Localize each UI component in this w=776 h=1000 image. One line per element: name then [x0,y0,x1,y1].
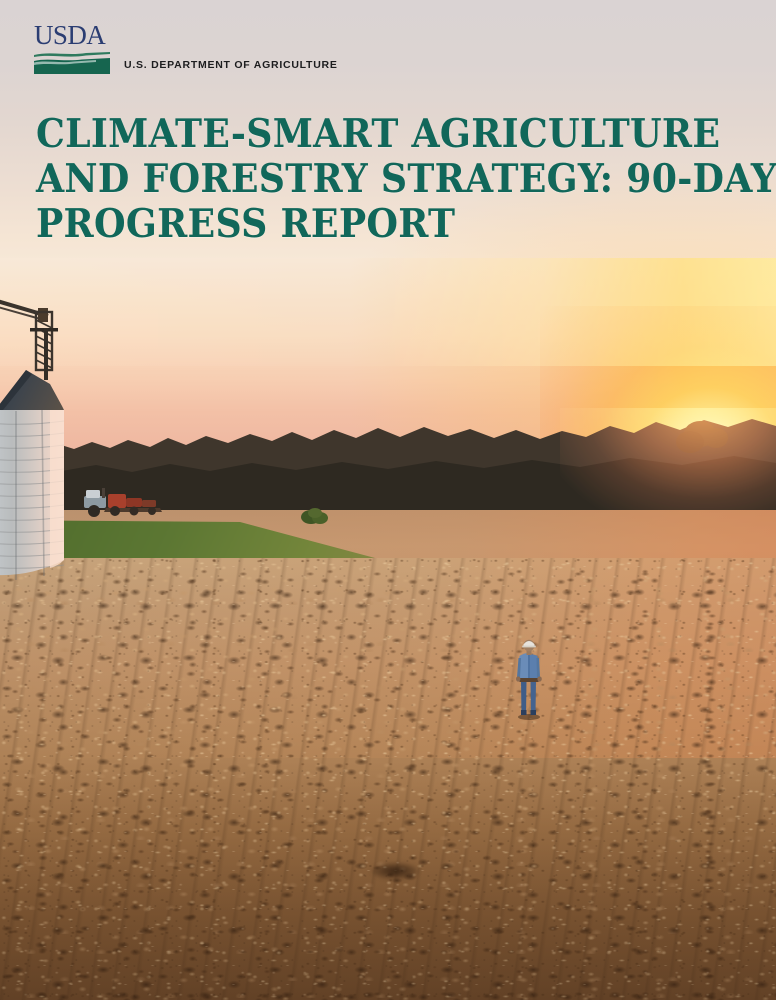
foreground-vignette [0,760,776,1000]
title-line-2: AND FORESTRY STRATEGY: 90-DAY [36,157,696,202]
usda-logo: USDA U.S. DEPARTMENT OF AGRICULTURE [34,22,338,76]
field-dark-patch [372,863,418,879]
title-line-3: PROGRESS REPORT [36,202,696,247]
title-line-1: CLIMATE-SMART AGRICULTURE [36,112,696,157]
usda-wordmark: USDA [34,22,110,48]
grain-silo [0,288,88,588]
farm-equipment [82,480,178,522]
shrub-icon [300,506,332,524]
auger-arm [0,296,48,322]
department-label: U.S. DEPARTMENT OF AGRICULTURE [124,59,338,71]
farmer-figure [512,636,546,720]
usda-seal-logo-icon: USDA [34,22,110,76]
silo-tower [30,312,58,380]
report-cover: USDA U.S. DEPARTMENT OF AGRICULTURE CLIM… [0,0,776,1000]
treeline-warm-haze [0,258,776,366]
usda-field-graphic-icon [34,49,110,75]
page-title: CLIMATE-SMART AGRICULTURE AND FORESTRY S… [36,112,696,247]
cover-photograph: A farmer stands in a harvested crop-resi… [0,258,776,1000]
